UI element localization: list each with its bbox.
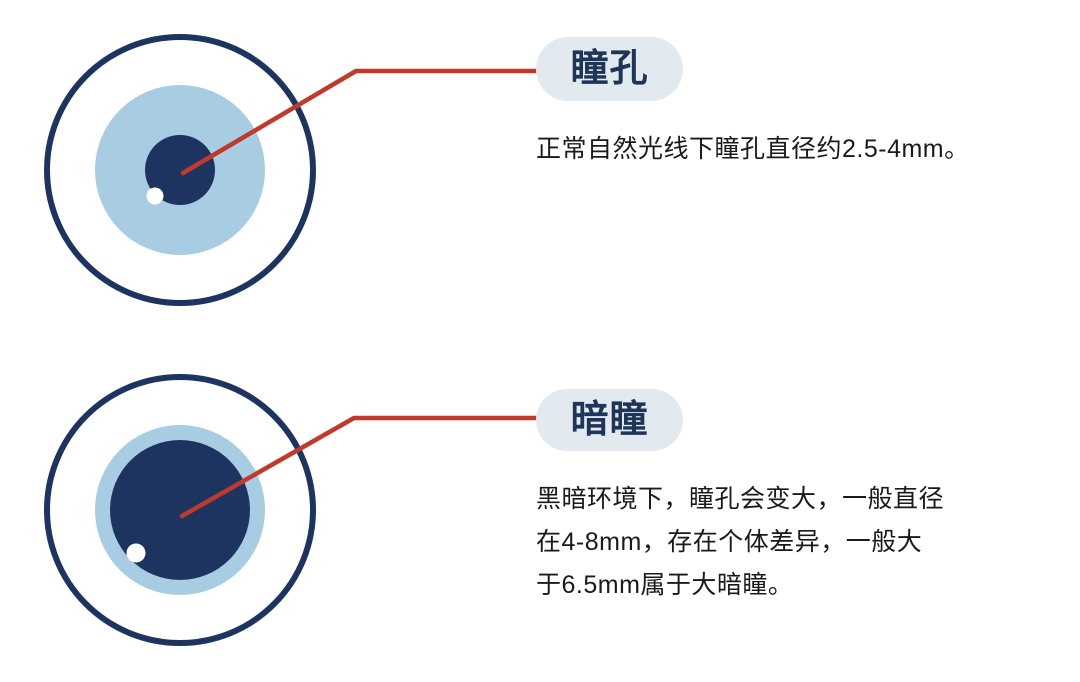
description-dark-pupil-line-3: 于6.5mm属于大暗瞳。 — [536, 564, 1056, 607]
eye-illustration-normal — [40, 25, 330, 315]
pupil-highlight-normal — [147, 188, 164, 205]
label-pill-normal-pupil: 瞳孔 — [536, 37, 683, 101]
label-pill-dark-pupil-text: 暗瞳 — [570, 401, 648, 439]
label-pill-dark-pupil: 暗瞳 — [536, 389, 683, 451]
description-dark-pupil-line-1: 黑暗环境下，瞳孔会变大，一般直径 — [536, 478, 1056, 521]
pupil-infographic: 瞳孔 正常自然光线下瞳孔直径约2.5-4mm。 暗瞳 黑暗环境下，瞳孔会变大，一… — [0, 0, 1080, 682]
description-normal-pupil-line-1: 正常自然光线下瞳孔直径约2.5-4mm。 — [536, 128, 1056, 171]
pupil-highlight-dark — [127, 544, 146, 563]
description-normal-pupil: 正常自然光线下瞳孔直径约2.5-4mm。 — [536, 128, 1056, 171]
eye-illustration-dark — [40, 368, 330, 658]
description-dark-pupil-line-2: 在4-8mm，存在个体差异，一般大 — [536, 521, 1056, 564]
description-dark-pupil: 黑暗环境下，瞳孔会变大，一般直径 在4-8mm，存在个体差异，一般大 于6.5m… — [536, 478, 1056, 607]
label-pill-normal-pupil-text: 瞳孔 — [570, 50, 648, 88]
